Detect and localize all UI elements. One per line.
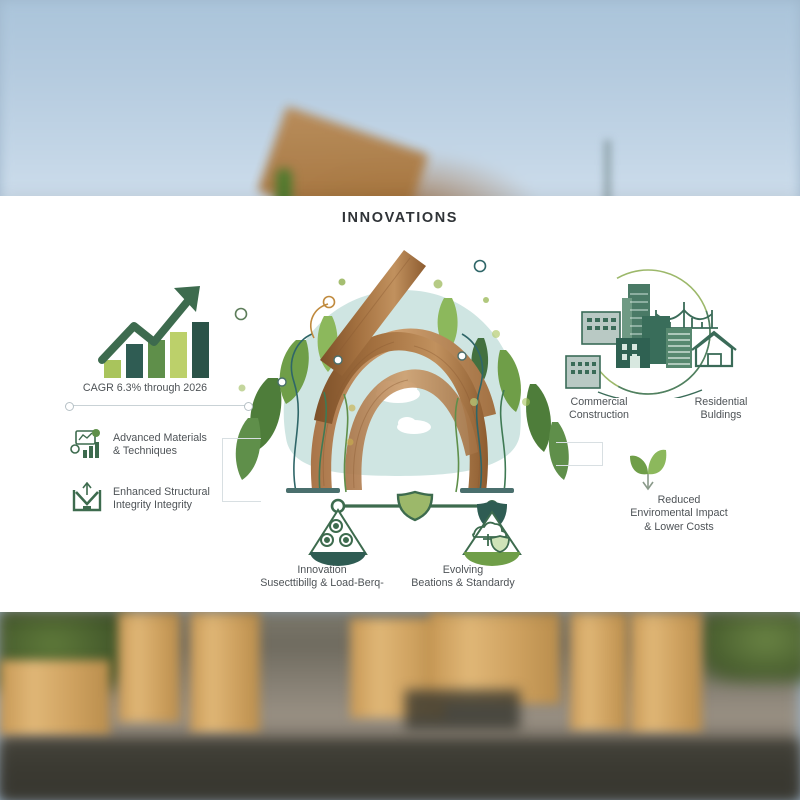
background-post-4 <box>570 612 628 730</box>
cityscape-bridge-icon <box>556 266 740 398</box>
benefit-label-reduced-impact: ReducedEnviromental Impact& Lower Costs <box>588 494 770 534</box>
list-item-label-advanced-materials: Advanced Materials& Techniques <box>113 432 223 459</box>
list-item-label-structural-integrity: Enhanced StructuralIntegrity Integrity <box>113 486 223 513</box>
cagr-stat-label: CAGR 6.3% through 2026 <box>30 382 260 395</box>
infographic-canvas: INNOVATIONS <box>0 0 800 800</box>
right-bracket-connector <box>556 442 603 466</box>
center-shield-icon <box>398 492 432 520</box>
label-commercial-construction: CommercialConstruction <box>551 396 647 423</box>
balance-scale-shield-icon <box>302 490 528 566</box>
background-trees-right <box>700 612 800 682</box>
label-residential-buildings: ResidentialBuldings <box>673 396 769 423</box>
scale-label-left: InnovationSusecttibillg & Load-Berq- <box>252 564 392 591</box>
background-bench <box>405 690 520 730</box>
background-post-5 <box>630 612 702 732</box>
page-title: INNOVATIONS <box>0 210 800 226</box>
cagr-connector-line <box>68 405 248 406</box>
background-foreground-dirt <box>0 740 800 800</box>
background-post-2 <box>190 612 260 732</box>
connector-dot-right <box>244 402 253 411</box>
infographic-card: INNOVATIONS <box>0 196 800 612</box>
background-post-1 <box>118 612 180 722</box>
timber-arch-illustration <box>228 242 572 502</box>
house-icon <box>692 332 736 366</box>
checkmark-arrow-up-icon <box>70 482 104 514</box>
connector-dot-left <box>65 402 74 411</box>
analytics-chart-icon <box>70 428 104 460</box>
background-panel-left <box>0 660 110 735</box>
leaf-down-arrow-icon <box>624 444 672 492</box>
growth-bar-chart-arrow-icon <box>96 280 214 380</box>
scale-label-right: EvolvingBeations & Standardy <box>388 564 538 591</box>
left-bracket-connector <box>222 438 261 502</box>
